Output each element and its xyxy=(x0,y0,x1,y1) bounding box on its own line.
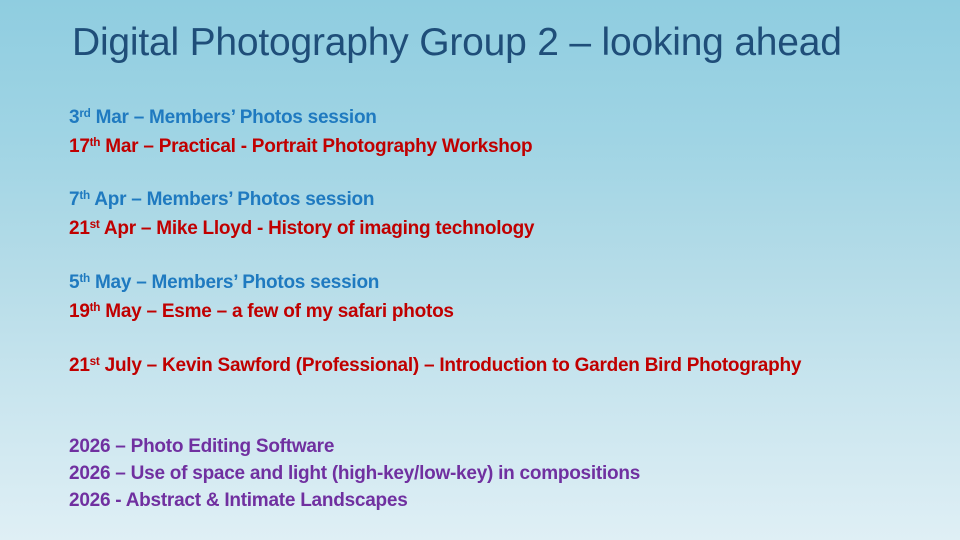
schedule-item-text: July – Kevin Sawford (Professional) – In… xyxy=(100,355,802,376)
schedule-item-day: 17 xyxy=(69,136,90,157)
schedule-item: 3rd Mar – Members’ Photos session xyxy=(69,104,949,133)
schedule-item-text: Mar – Practical - Portrait Photography W… xyxy=(100,136,532,157)
schedule-item: 21st July – Kevin Sawford (Professional)… xyxy=(69,352,949,381)
schedule-item: 21st Apr – Mike Lloyd - History of imagi… xyxy=(69,215,949,244)
schedule-item-day: 2026 xyxy=(69,436,110,457)
schedule-list: 3rd Mar – Members’ Photos session 17th M… xyxy=(69,104,949,514)
presentation-slide: Digital Photography Group 2 – looking ah… xyxy=(0,0,960,540)
schedule-group-2026: 2026 – Photo Editing Software 2026 – Use… xyxy=(69,433,949,514)
schedule-item-ordinal: st xyxy=(90,355,100,368)
group-spacer xyxy=(69,162,949,186)
schedule-item-ordinal: st xyxy=(90,218,100,231)
schedule-item-day: 7 xyxy=(69,189,79,210)
schedule-group-july: 21st July – Kevin Sawford (Professional)… xyxy=(69,352,949,381)
schedule-item-ordinal: rd xyxy=(79,107,90,120)
slide-title: Digital Photography Group 2 – looking ah… xyxy=(72,20,932,66)
group-spacer xyxy=(69,381,949,433)
schedule-item-ordinal: th xyxy=(79,272,90,285)
group-spacer xyxy=(69,327,949,352)
schedule-item: 2026 - Abstract & Intimate Landscapes xyxy=(69,487,949,514)
schedule-item: 17th Mar – Practical - Portrait Photogra… xyxy=(69,133,949,162)
schedule-item: 2026 – Photo Editing Software xyxy=(69,433,949,460)
schedule-item-text: Apr – Mike Lloyd - History of imaging te… xyxy=(100,218,535,239)
schedule-item-text: Apr – Members’ Photos session xyxy=(90,189,374,210)
schedule-item-text: – Photo Editing Software xyxy=(110,436,334,457)
schedule-item-text: May – Members’ Photos session xyxy=(90,272,379,293)
schedule-item: 19th May – Esme – a few of my safari pho… xyxy=(69,298,949,327)
schedule-item-day: 21 xyxy=(69,355,90,376)
schedule-item-text: - Abstract & Intimate Landscapes xyxy=(110,490,407,511)
schedule-item: 7th Apr – Members’ Photos session xyxy=(69,186,949,215)
schedule-item-day: 5 xyxy=(69,272,79,293)
schedule-item-day: 2026 xyxy=(69,490,110,511)
schedule-item-day: 19 xyxy=(69,301,90,322)
schedule-item-day: 3 xyxy=(69,107,79,128)
schedule-item: 2026 – Use of space and light (high-key/… xyxy=(69,460,949,487)
schedule-item-text: – Use of space and light (high-key/low-k… xyxy=(110,463,640,484)
schedule-item-text: May – Esme – a few of my safari photos xyxy=(100,301,454,322)
schedule-item-ordinal: th xyxy=(79,189,90,202)
schedule-item-day: 21 xyxy=(69,218,90,239)
group-spacer xyxy=(69,244,949,269)
schedule-item-day: 2026 xyxy=(69,463,110,484)
schedule-item-text: Mar – Members’ Photos session xyxy=(91,107,377,128)
schedule-item-ordinal: th xyxy=(90,301,101,314)
schedule-group-may: 5th May – Members’ Photos session 19th M… xyxy=(69,269,949,327)
schedule-item: 5th May – Members’ Photos session xyxy=(69,269,949,298)
schedule-group-march: 3rd Mar – Members’ Photos session 17th M… xyxy=(69,104,949,162)
schedule-group-april: 7th Apr – Members’ Photos session 21st A… xyxy=(69,186,949,244)
schedule-item-ordinal: th xyxy=(90,136,101,149)
